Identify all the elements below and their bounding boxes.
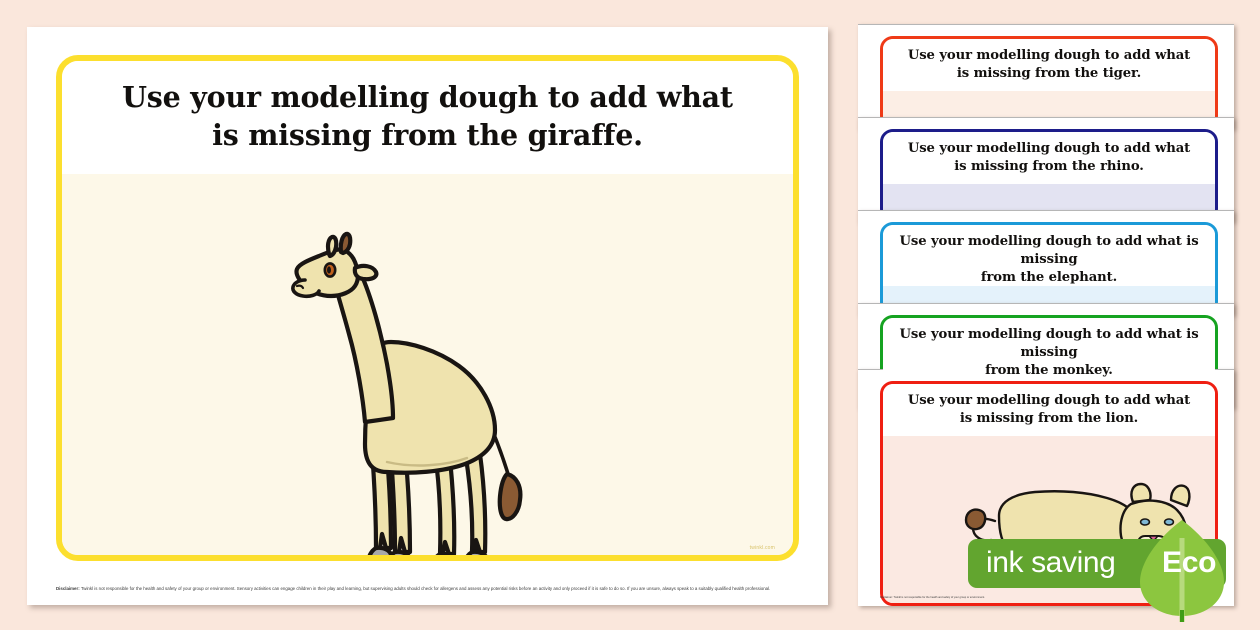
main-worksheet-sheet: Use your modelling dough to add what is … [27,27,828,605]
mini-card-rhino: Use your modelling dough to add what is … [880,129,1218,222]
twinkl-watermark: twinkl.com [750,545,775,551]
mini-card-title-rhino: Use your modelling dough to add what is … [883,132,1215,176]
main-activity-card: Use your modelling dough to add what is … [56,55,799,561]
mini-card-title-monkey: Use your modelling dough to add what is … [883,318,1215,379]
disclaimer-label: Disclaimer: [56,586,80,591]
main-disclaimer: Disclaimer: Twinkl is not responsible fo… [56,585,803,593]
giraffe-illustration [283,222,573,561]
stack-sheet-rhino[interactable]: Use your modelling dough to add what is … [858,117,1234,222]
mini-card-title-lion: Use your modelling dough to add what is … [883,384,1215,428]
mini-card-elephant: Use your modelling dough to add what is … [880,222,1218,315]
eco-label: Eco [1162,546,1216,580]
mini-card-title-elephant: Use your modelling dough to add what is … [883,225,1215,286]
ink-saving-eco-badge: ink saving Eco [968,533,1260,593]
mini-card-title-tiger: Use your modelling dough to add what is … [883,39,1215,83]
mini-card-tiger: Use your modelling dough to add what is … [880,36,1218,129]
eco-ink-saving-label: ink saving [986,546,1115,580]
page-title: Use your modelling dough to add what is … [62,61,793,156]
disclaimer-text: Twinkl is not responsible for the health… [80,586,771,591]
main-card-illustration-area [62,174,793,555]
stack-sheet-elephant[interactable]: Use your modelling dough to add what is … [858,210,1234,315]
stack-sheet-tiger[interactable]: Use your modelling dough to add what is … [858,24,1234,129]
